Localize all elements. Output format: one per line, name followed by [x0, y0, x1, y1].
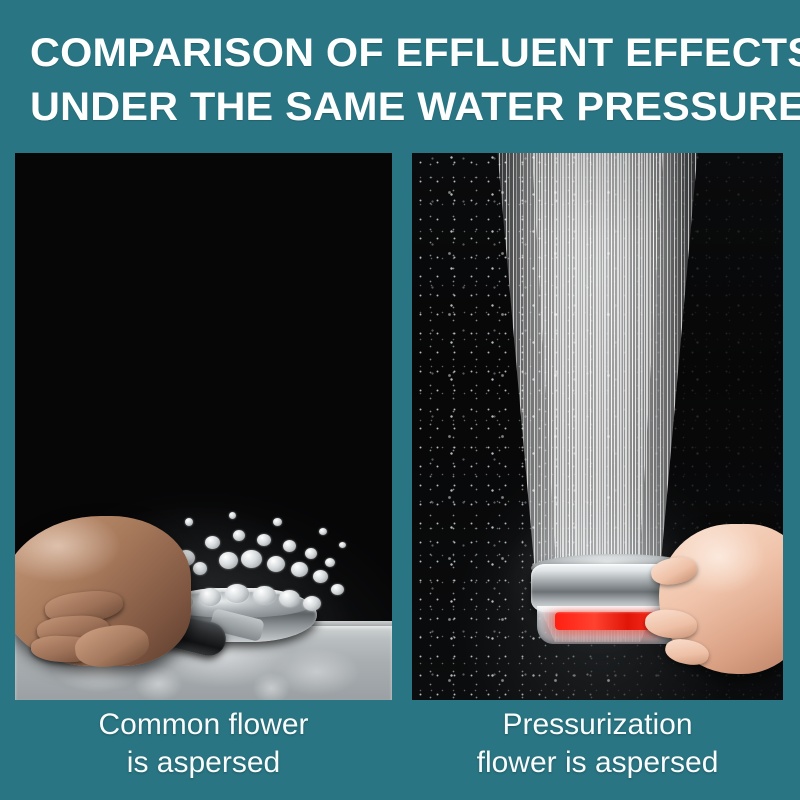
caption-pressurization-flower: Pressurization flower is aspersed — [412, 706, 783, 782]
caption-common-flower: Common flower is aspersed — [15, 706, 392, 782]
title-line-1: COMPARISON OF EFFLUENT EFFECTS — [30, 26, 800, 80]
caption-common-line-1: Common flower — [15, 706, 392, 744]
panel-pressurization-flower — [412, 153, 783, 700]
title-line-2: UNDER THE SAME WATER PRESSURE — [30, 80, 800, 134]
right-hand — [659, 524, 783, 674]
comparison-panels — [0, 153, 800, 700]
panel-common-flower — [15, 153, 392, 700]
caption-pressurization-line-2: flower is aspersed — [412, 744, 783, 782]
page-title: COMPARISON OF EFFLUENT EFFECTS UNDER THE… — [30, 26, 782, 134]
caption-common-line-2: is aspersed — [15, 744, 392, 782]
caption-pressurization-line-1: Pressurization — [412, 706, 783, 744]
panel-captions: Common flower is aspersed Pressurization… — [0, 706, 800, 800]
poster: COMPARISON OF EFFLUENT EFFECTS UNDER THE… — [0, 0, 800, 800]
